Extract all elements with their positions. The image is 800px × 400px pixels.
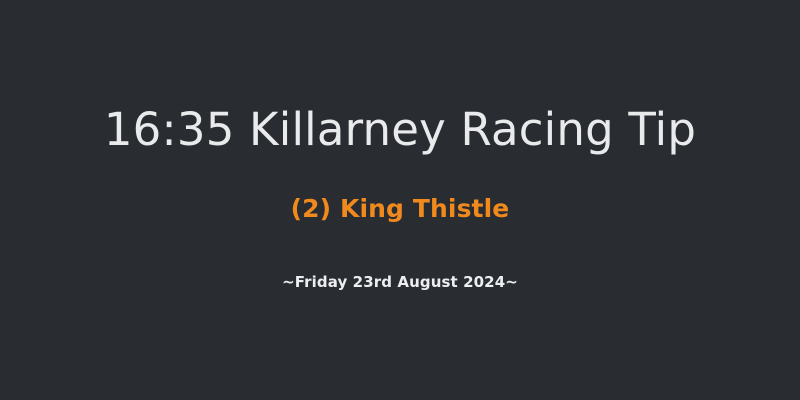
- page-title: 16:35 Killarney Racing Tip: [0, 101, 800, 159]
- racing-tip-card: 16:35 Killarney Racing Tip (2) King This…: [0, 0, 800, 400]
- race-date: ~Friday 23rd August 2024~: [0, 272, 800, 292]
- tip-selection: (2) King Thistle: [0, 193, 800, 225]
